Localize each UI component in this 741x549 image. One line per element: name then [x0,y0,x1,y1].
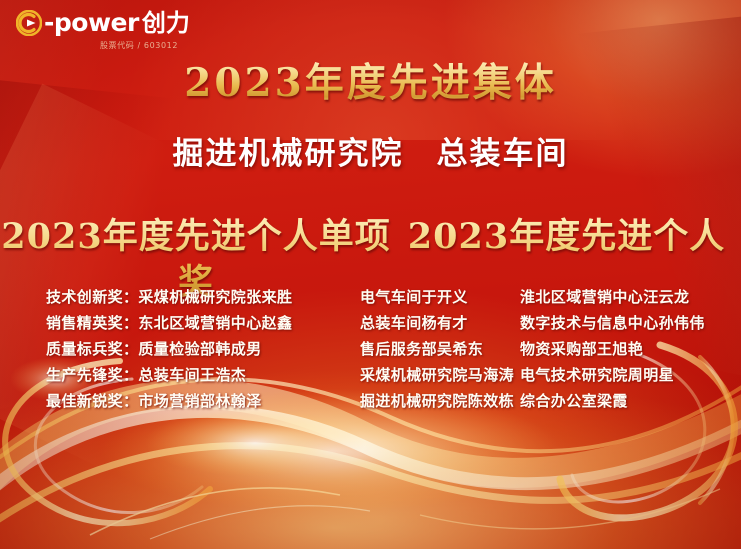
c-power-circle-icon [16,10,42,36]
individual-name: 电气技术研究院周明星 [520,362,720,388]
award-lists: 技术创新奖：采煤机械研究院张来胜 销售精英奖：东北区域营销中心赵鑫 质量标兵奖：… [0,284,741,414]
individual-name: 物资采购部王旭艳 [520,336,720,362]
individual-name: 售后服务部吴希东 [360,336,520,362]
list-item: 掘进机械研究院陈效栋 综合办公室梁霞 [360,388,741,414]
award-poster: -power 创力 股票代码 / 603012 2023年度先进集体 掘进机械研… [0,0,741,549]
list-item: 电气车间于开义 淮北区域营销中心汪云龙 [360,284,741,310]
logo-wordmark: -power [44,10,139,36]
list-item: 技术创新奖：采煤机械研究院张来胜 [46,284,360,310]
special-award-list: 技术创新奖：采煤机械研究院张来胜 销售精英奖：东北区域营销中心赵鑫 质量标兵奖：… [0,284,360,414]
list-item: 生产先锋奖：总装车间王浩杰 [46,362,360,388]
individual-name: 淮北区域营销中心汪云龙 [520,284,720,310]
logo-row: -power 创力 [16,10,216,36]
individual-name: 数字技术与信息中心孙伟伟 [520,310,720,336]
list-item: 最佳新锐奖：市场营销部林翰泽 [46,388,360,414]
individual-name: 电气车间于开义 [360,284,520,310]
individual-name: 掘进机械研究院陈效栋 [360,388,520,414]
logo-wordmark-cn: 创力 [142,10,190,36]
list-item: 采煤机械研究院马海涛 电气技术研究院周明星 [360,362,741,388]
individual-name: 综合办公室梁霞 [520,388,720,414]
list-item: 销售精英奖：东北区域营销中心赵鑫 [46,310,360,336]
page-subtitle: 掘进机械研究院 总装车间 [0,134,741,174]
list-item: 总装车间杨有才 数字技术与信息中心孙伟伟 [360,310,741,336]
page-title: 2023年度先进集体 [0,60,741,106]
logo-stock-code: 股票代码 / 603012 [62,40,216,51]
company-logo: -power 创力 股票代码 / 603012 [16,10,216,51]
list-item: 质量标兵奖：质量检验部韩成男 [46,336,360,362]
individual-award-list: 电气车间于开义 淮北区域营销中心汪云龙 总装车间杨有才 数字技术与信息中心孙伟伟… [360,284,741,414]
list-item: 售后服务部吴希东 物资采购部王旭艳 [360,336,741,362]
individual-name: 总装车间杨有才 [360,310,520,336]
individual-name: 采煤机械研究院马海涛 [360,362,520,388]
